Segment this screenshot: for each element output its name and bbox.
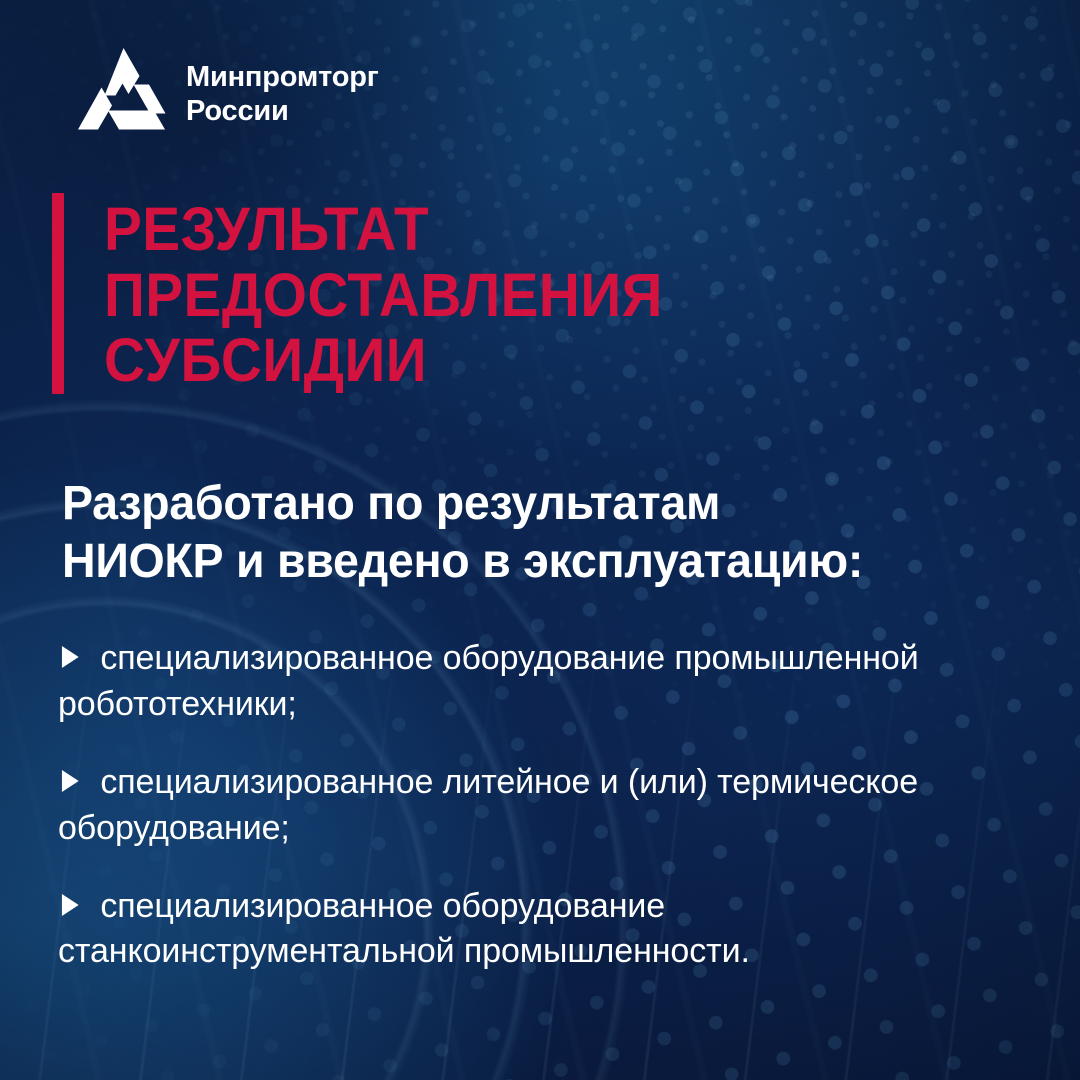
headline-accent-bar xyxy=(52,193,64,394)
poster-content: Минпромторг России РЕЗУЛЬТАТ ПРЕДОСТАВЛЕ… xyxy=(0,0,1080,1080)
list-item-label: специализированное оборудование промышле… xyxy=(58,639,919,723)
list-item: специализированное оборудование станкоин… xyxy=(58,884,1033,976)
headline-block: РЕЗУЛЬТАТ ПРЕДОСТАВЛЕНИЯ СУБСИДИИ xyxy=(52,193,705,394)
list-item: специализированное оборудование промышле… xyxy=(58,636,1033,728)
triangle-right-bullet-icon xyxy=(62,770,79,792)
triangle-right-bullet-icon xyxy=(62,646,79,668)
list-item-label: специализированное литейное и (или) терм… xyxy=(58,763,918,847)
triangle-right-bullet-icon xyxy=(62,894,79,916)
organization-name: Минпромторг России xyxy=(186,61,379,129)
minpromtorg-triangle-logo-icon xyxy=(76,46,168,144)
poster-canvas: Минпромторг России РЕЗУЛЬТАТ ПРЕДОСТАВЛЕ… xyxy=(0,0,1080,1080)
brand-lockup: Минпромторг России xyxy=(76,46,379,144)
bullet-list: специализированное оборудование промышле… xyxy=(58,636,1048,975)
page-title: РЕЗУЛЬТАТ ПРЕДОСТАВЛЕНИЯ СУБСИДИИ xyxy=(104,193,663,394)
subtitle: Разработано по результатам НИОКР и введе… xyxy=(62,475,1008,591)
list-item-label: специализированное оборудование станкоин… xyxy=(58,887,750,971)
list-item: специализированное литейное и (или) терм… xyxy=(58,760,1033,852)
